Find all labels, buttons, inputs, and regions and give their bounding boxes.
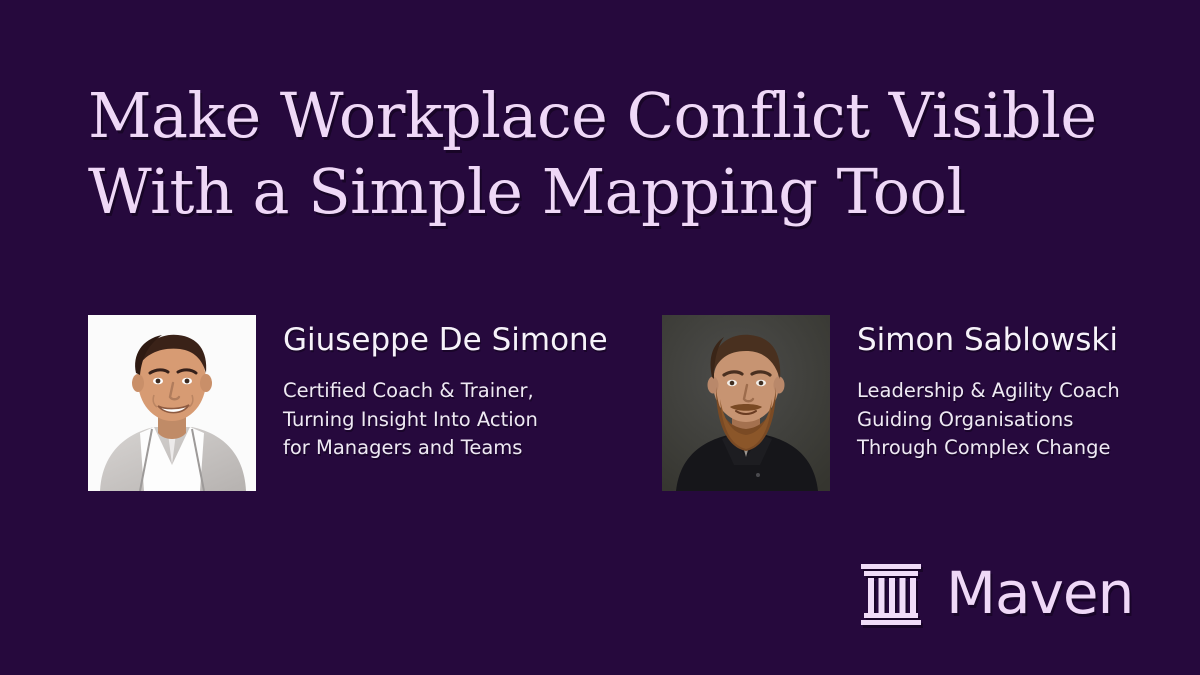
maven-wordmark: Maven (946, 562, 1133, 624)
speaker-bio-line-2: Turning Insight Into Action (283, 406, 608, 435)
speaker-bio: Certified Coach & Trainer, Turning Insig… (283, 377, 608, 463)
speaker-info-giuseppe-de-simone: Giuseppe De Simone Certified Coach & Tra… (283, 315, 608, 463)
speaker-photo-giuseppe-de-simone (88, 315, 256, 491)
speaker-photo-simon-sablowski (662, 315, 830, 491)
speaker-info-simon-sablowski: Simon Sablowski Leadership & Agility Coa… (857, 315, 1120, 463)
speaker-name: Giuseppe De Simone (283, 321, 608, 359)
temple-columns-icon (858, 558, 924, 628)
speaker-bio-line-3: Through Complex Change (857, 434, 1120, 463)
speaker-bio-line-3: for Managers and Teams (283, 434, 608, 463)
title-line-2: With a Simple Mapping Tool (88, 154, 1088, 230)
speaker-card-giuseppe-de-simone: Giuseppe De Simone Certified Coach & Tra… (88, 315, 608, 491)
speaker-card-simon-sablowski: Simon Sablowski Leadership & Agility Coa… (662, 315, 1120, 491)
speaker-bio-line-1: Leadership & Agility Coach (857, 377, 1120, 406)
speaker-bio-line-2: Guiding Organisations (857, 406, 1120, 435)
speaker-bio: Leadership & Agility Coach Guiding Organ… (857, 377, 1120, 463)
speaker-bio-line-1: Certified Coach & Trainer, (283, 377, 608, 406)
presentation-slide: Make Workplace Conflict Visible With a S… (0, 0, 1200, 675)
maven-logo: Maven (858, 558, 1133, 628)
speaker-name: Simon Sablowski (857, 321, 1120, 359)
title-line-1: Make Workplace Conflict Visible (88, 78, 1088, 154)
slide-title: Make Workplace Conflict Visible With a S… (88, 78, 1088, 230)
speaker-list: Giuseppe De Simone Certified Coach & Tra… (0, 315, 1200, 495)
